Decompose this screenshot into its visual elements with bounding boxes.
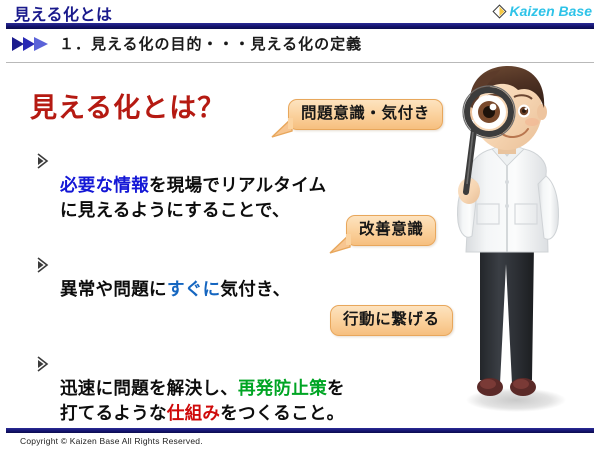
copyright-notice: Copyright © Kaizen Base All Rights Reser… [20,436,203,446]
bullet-3-segment-3: 仕組み [167,403,220,423]
shoe-right-highlight [513,379,529,389]
brand-logo: Kaizen Base [492,3,592,19]
bullet-text-2: 異常や問題にすぐに気付き、 [60,252,290,302]
callout-label-2: 改善意識 [359,221,423,238]
slide-main-title: 見える化とは？ [30,86,225,125]
chevron-right-bullet-icon [36,254,50,276]
callout-bubble-2: 改善意識 [346,215,436,246]
bullet-text-1: 必要な情報を現場でリアルタイム に見えるようにすることで、 [60,148,326,223]
section-heading-label: １．見える化の目的・・・見える化の定義 [59,33,362,54]
bullet-1-segment-0: 必要な情報 [60,175,149,195]
bullet-2-segment-0: 異常や問題に [60,279,167,299]
callout-tail-icon [329,234,351,254]
bullet-3-segment-4: をつくること。 [220,403,344,423]
person-with-magnifying-glass-illustration [444,64,600,424]
footer-divider [6,428,594,433]
bullet-item-1: 必要な情報を現場でリアルタイム に見えるようにすることで、 [36,148,326,223]
header-divider [6,23,594,29]
bullet-2-segment-1: すぐに [167,279,220,299]
brand-logo-text: Kaizen Base [510,3,592,19]
callout-bubble-3: 行動に繋げる [330,305,453,336]
bullet-text-3: 迅速に問題を解決し、再発防止策を 打てるような仕組みをつくること。 [60,351,345,426]
callout-label-1: 問題意識・気付き [301,105,430,122]
bullet-item-3: 迅速に問題を解決し、再発防止策を 打てるような仕組みをつくること。 [36,351,345,426]
diamond-icon [492,4,507,19]
ear-right [537,104,547,120]
callout-tail-icon [271,118,293,138]
callout-label-3: 行動に繋げる [343,311,440,328]
bullet-3-segment-1: 再発防止策 [238,378,327,398]
eye-right-glint [525,108,528,111]
chevron-right-bullet-icon [36,353,50,375]
magnified-eye-glint [490,104,497,111]
chevron-right-bullet-icon [36,150,50,172]
section-heading: １．見える化の目的・・・見える化の定義 [12,33,362,54]
callout-bubble-1: 問題意識・気付き [288,99,443,130]
bullet-item-2: 異常や問題にすぐに気付き、 [36,252,290,302]
jacket-button-2 [505,204,509,208]
cheek-blush [525,118,539,126]
page-title: 見える化とは [14,1,113,25]
bullet-2-segment-2: 気付き、 [220,279,290,299]
shoe-left-highlight [480,379,496,389]
slide: 見える化とは Kaizen Base １．見える化の目的・・・見える化の定義 見… [0,0,600,450]
section-divider [6,62,594,63]
bullet-3-segment-0: 迅速に問題を解決し、 [60,378,238,398]
trousers [480,244,534,384]
triple-chevron-right-icon [12,36,52,52]
jacket-button-1 [505,180,509,184]
